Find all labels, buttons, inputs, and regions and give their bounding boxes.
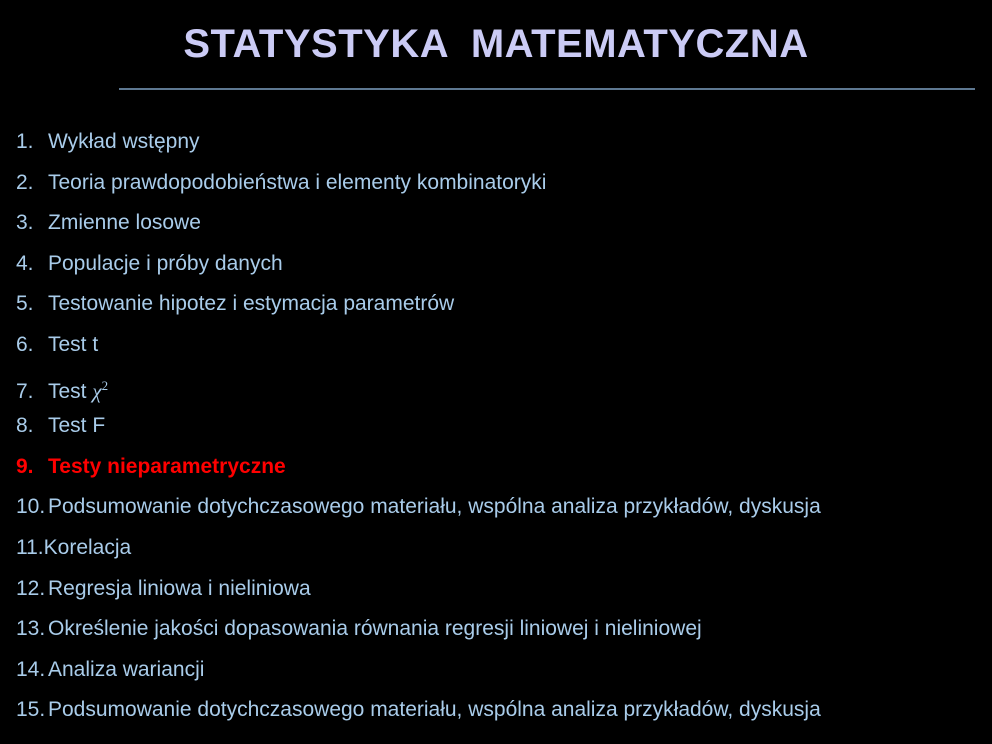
list-item-number: 6. [16,325,48,366]
agenda-list: 1. Wykład wstępny 2. Teoria prawdopodobi… [0,122,992,731]
list-item-number: 15. [16,690,48,731]
slide-title-block: STATYSTYKA MATEMATYCZNA [0,22,992,67]
list-item-label: Podsumowanie dotychczasowego materiału, … [48,487,821,528]
list-item-label: Teoria prawdopodobieństwa i elementy kom… [48,163,546,204]
list-item-number: 8. [16,406,48,447]
list-item: 8. Test F [0,406,992,447]
list-item-number: 4. [16,244,48,285]
page-title: STATYSTYKA MATEMATYCZNA [0,22,992,67]
list-item-number: 13. [16,609,48,650]
list-item-label: Podsumowanie dotychczasowego materiału, … [48,690,821,731]
list-item-number: 14. [16,650,48,691]
list-item: 10. Podsumowanie dotychczasowego materia… [0,487,992,528]
list-item-number: 5. [16,284,48,325]
list-item: 15. Podsumowanie dotychczasowego materia… [0,690,992,731]
list-item-label: Analiza wariancji [48,650,204,691]
list-item-number: 2. [16,163,48,204]
list-item-label: Testy nieparametryczne [48,447,286,488]
list-item-number: 9. [16,447,48,488]
presentation-slide: STATYSTYKA MATEMATYCZNA 1. Wykład wstępn… [0,0,992,744]
title-divider [119,88,975,90]
list-item: 14. Analiza wariancji [0,650,992,691]
chi-symbol: χ [92,379,101,403]
list-item: 3. Zmienne losowe [0,203,992,244]
list-item-label: Regresja liniowa i nieliniowa [48,569,311,610]
chi-exponent: 2 [102,378,109,393]
list-item: 4. Populacje i próby danych [0,244,992,285]
list-item-number: 11. [16,528,44,569]
list-item-label: Zmienne losowe [48,203,201,244]
list-item: 13. Określenie jakości dopasowania równa… [0,609,992,650]
list-item-label: Korelacja [44,528,132,569]
list-item: 12. Regresja liniowa i nieliniowa [0,569,992,610]
list-item: 1. Wykład wstępny [0,122,992,163]
list-item-label: Określenie jakości dopasowania równania … [48,609,702,650]
list-item-label: Testowanie hipotez i estymacja parametró… [48,284,454,325]
list-item-number: 12. [16,569,48,610]
list-item-highlighted: 9. Testy nieparametryczne [0,447,992,488]
list-item-label: Populacje i próby danych [48,244,283,285]
list-item: 11. Korelacja [0,528,992,569]
list-item: 2. Teoria prawdopodobieństwa i elementy … [0,163,992,204]
list-item: 6. Test t [0,325,992,366]
list-item-label: Test χ2 [48,366,108,413]
list-item-number: 3. [16,203,48,244]
list-item-label: Wykład wstępny [48,122,200,163]
list-item: 7. Test χ2 [0,366,992,407]
list-item-number: 10. [16,487,48,528]
list-item-label: Test F [48,406,105,447]
list-item: 5. Testowanie hipotez i estymacja parame… [0,284,992,325]
list-item-label: Test t [48,325,98,366]
list-item-number: 1. [16,122,48,163]
